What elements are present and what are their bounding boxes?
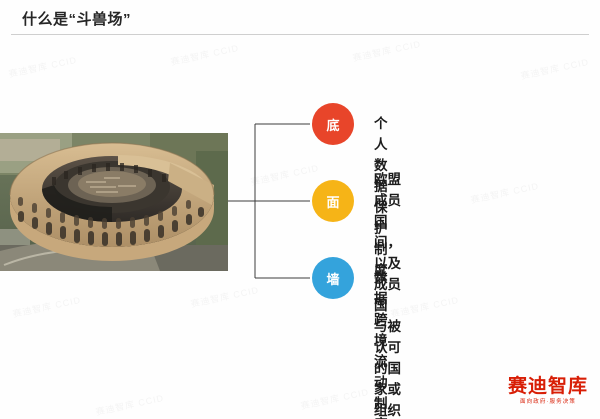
watermark: 赛迪智库 CCID	[7, 53, 78, 80]
watermark: 赛迪智库 CCID	[351, 37, 422, 64]
brand-logo: 赛迪智库 面向政府·服务决策	[508, 376, 588, 407]
node-badge-qiang[interactable]: 墙	[312, 257, 354, 299]
node-label-qiang: 数据跨境流动制度	[374, 267, 388, 419]
page-title: 什么是“斗兽场”	[22, 8, 131, 29]
colosseum-illustration	[0, 133, 228, 271]
brand-tagline: 面向政府·服务决策	[511, 398, 585, 406]
watermark: 赛迪智库 CCID	[299, 385, 370, 412]
watermark: 赛迪智库 CCID	[469, 179, 540, 206]
watermark: 赛迪智库 CCID	[94, 391, 165, 418]
title-divider	[11, 34, 589, 35]
watermark: 赛迪智库 CCID	[519, 55, 590, 82]
watermark: 赛迪智库 CCID	[169, 41, 240, 68]
node-badge-di[interactable]: 底	[312, 103, 354, 145]
brand-name: 赛迪智库	[508, 376, 588, 398]
watermark: 赛迪智库 CCID	[11, 293, 82, 320]
node-badge-mian[interactable]: 面	[312, 180, 354, 222]
colosseum-aerial-photo	[0, 133, 228, 271]
slide-canvas: 赛迪智库 CCID 赛迪智库 CCID 赛迪智库 CCID 赛迪智库 CCID …	[0, 0, 600, 419]
